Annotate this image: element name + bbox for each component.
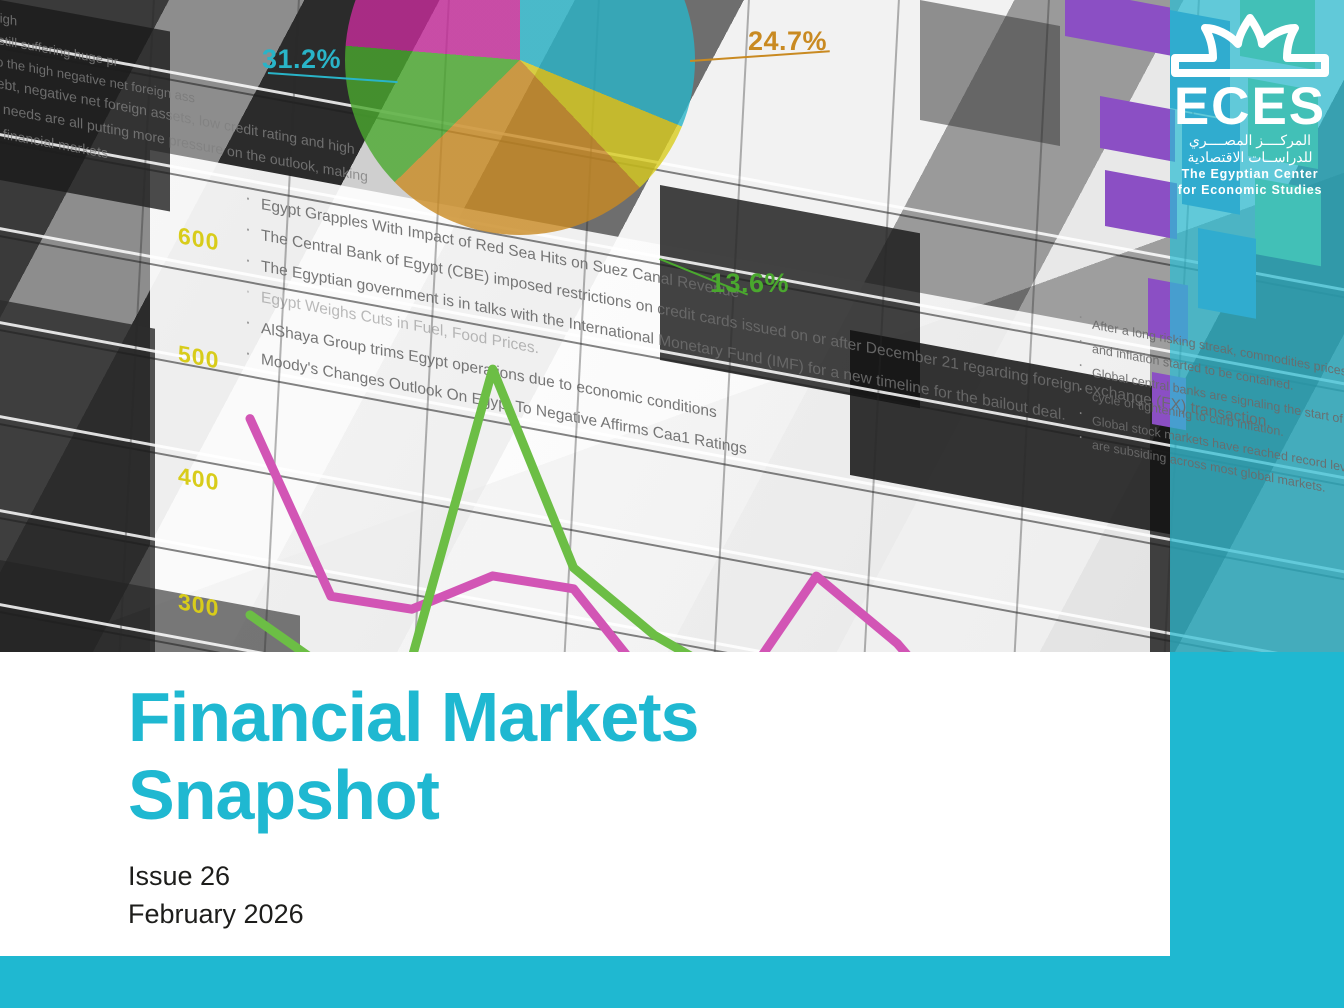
- page-title: Financial Markets Snapshot: [128, 678, 1078, 834]
- cover-page: gone high und is still suffering huge pr…: [0, 0, 1344, 1008]
- issue-number: Issue 26: [128, 857, 304, 895]
- line-chart: [0, 180, 1180, 652]
- logo-arabic-line1: المركــــز المصــــري: [1164, 132, 1336, 149]
- cover-content: Financial Markets Snapshot Issue 26 Febr…: [0, 652, 1170, 956]
- logo-english-line1: The Egyptian Center: [1164, 167, 1336, 182]
- logo-english-line2: for Economic Studies: [1164, 183, 1336, 198]
- logo-arabic-line2: للدراســات الاقتصادية: [1164, 149, 1336, 166]
- pie-label-orange: 24.7%: [748, 26, 827, 57]
- brand-bottom-bar: [0, 956, 1344, 1008]
- hero-image: gone high und is still suffering huge pr…: [0, 0, 1344, 652]
- line-series-path: [250, 369, 1140, 652]
- logo-acronym: ECES: [1164, 82, 1336, 132]
- lotus-crown-icon: [1169, 14, 1331, 80]
- title-line-1: Financial Markets: [128, 678, 1078, 756]
- brand-side-panel: [1170, 652, 1344, 1008]
- title-line-2: Snapshot: [128, 756, 1078, 834]
- eces-logo: ECES المركــــز المصــــري للدراســات ال…: [1164, 14, 1336, 198]
- issue-date: February 2026: [128, 895, 304, 933]
- issue-info: Issue 26 February 2026: [128, 857, 304, 933]
- pie-label-cyan: 31.2%: [262, 44, 341, 75]
- line-series-path: [250, 419, 1140, 652]
